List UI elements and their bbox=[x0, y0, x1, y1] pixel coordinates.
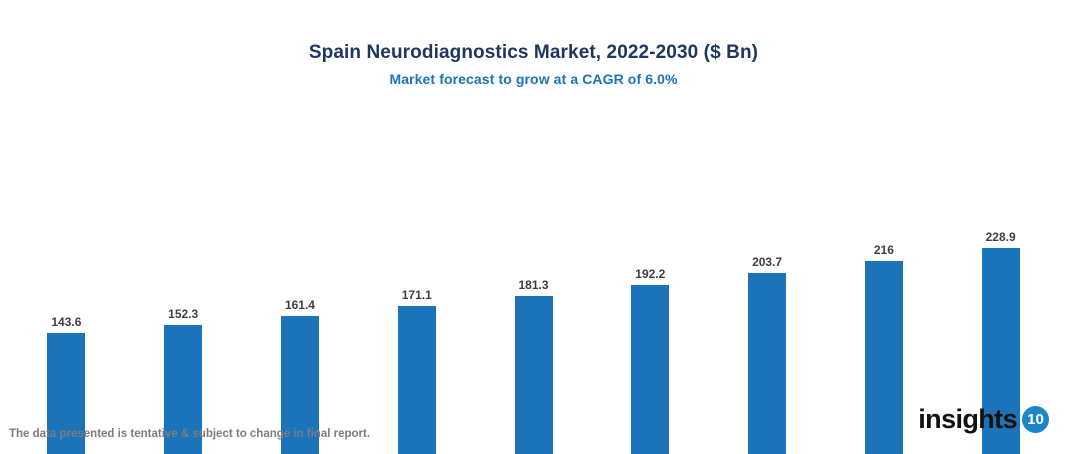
bar-value-label: 192.2 bbox=[635, 268, 665, 280]
bar-series: 143.6 152.3 161.4 171.1 181.3 192.2 bbox=[8, 210, 1059, 454]
bar-group-2027F: 192.2 bbox=[592, 210, 709, 454]
bar-rect[interactable] bbox=[398, 306, 436, 454]
bar-value-label: 152.3 bbox=[168, 308, 198, 320]
bar-rect[interactable] bbox=[515, 296, 553, 454]
bar-rect[interactable] bbox=[631, 285, 669, 454]
bar-value-label: 203.7 bbox=[752, 256, 782, 268]
bar-group-2026F: 181.3 bbox=[475, 210, 592, 454]
bar-group-2028F: 203.7 bbox=[709, 210, 826, 454]
bar-group-2024F: 161.4 bbox=[242, 210, 359, 454]
logo-wordmark: insights bbox=[918, 406, 1017, 433]
chart-page: Spain Neurodiagnostics Market, 2022-2030… bbox=[0, 0, 1067, 454]
bar-value-label: 161.4 bbox=[285, 299, 315, 311]
insights10-logo: insights 10 bbox=[918, 406, 1049, 433]
bar-value-label: 228.9 bbox=[986, 231, 1016, 243]
page-title: Spain Neurodiagnostics Market, 2022-2030… bbox=[0, 42, 1067, 64]
bar-value-label: 143.6 bbox=[51, 316, 81, 328]
bar-value-label: 171.1 bbox=[402, 289, 432, 301]
chart-subtitle: Market forecast to grow at a CAGR of 6.0… bbox=[0, 71, 1067, 87]
plot-area: 143.6 152.3 161.4 171.1 181.3 192.2 bbox=[0, 100, 1067, 378]
bar-rect[interactable] bbox=[865, 261, 903, 454]
disclaimer-note: The data presented is tentative & subjec… bbox=[9, 428, 370, 440]
bar-group-2025F: 171.1 bbox=[358, 210, 475, 454]
bar-group-2022: 143.6 bbox=[8, 210, 125, 454]
bar-rect[interactable] bbox=[748, 273, 786, 454]
bar-value-label: 216 bbox=[874, 244, 894, 256]
bar-value-label: 181.3 bbox=[519, 279, 549, 291]
logo-badge-icon: 10 bbox=[1022, 406, 1049, 433]
bar-group-2023F: 152.3 bbox=[125, 210, 242, 454]
